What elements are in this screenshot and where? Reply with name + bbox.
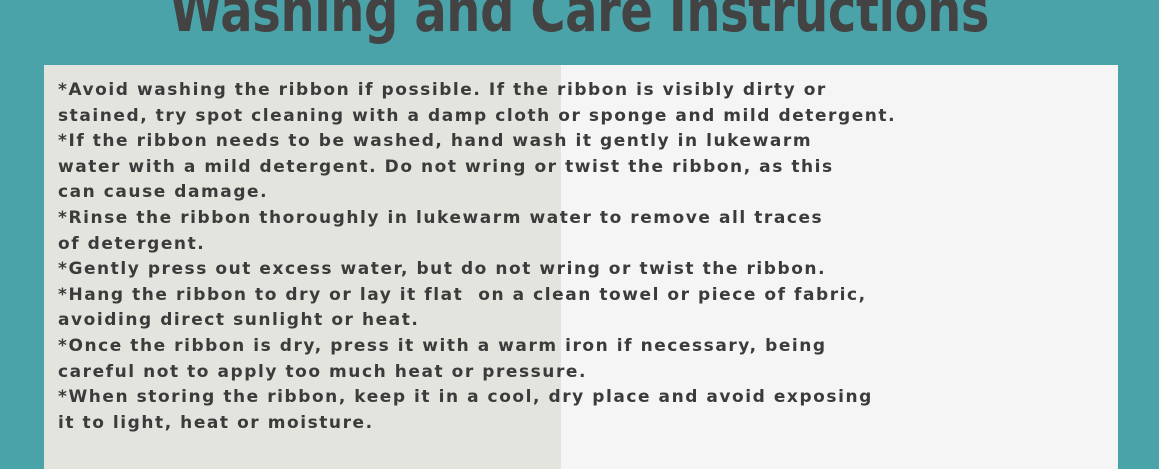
list-item: *If the ribbon needs to be washed, hand … bbox=[58, 129, 1110, 155]
list-item: *Rinse the ribbon thoroughly in lukewarm… bbox=[58, 206, 1110, 232]
list-item: of detergent. bbox=[58, 232, 1110, 258]
list-item: stained, try spot cleaning with a damp c… bbox=[58, 104, 1110, 130]
list-item: *Once the ribbon is dry, press it with a… bbox=[58, 334, 1110, 360]
list-item: avoiding direct sunlight or heat. bbox=[58, 308, 1110, 334]
poster-title-bar: Washing and Care Instructions bbox=[0, 0, 1159, 65]
instruction-list: *Avoid washing the ribbon if possible. I… bbox=[58, 78, 1110, 436]
page-title: Washing and Care Instructions bbox=[170, 0, 990, 41]
list-item: *When storing the ribbon, keep it in a c… bbox=[58, 385, 1110, 411]
list-item: *Hang the ribbon to dry or lay it flat o… bbox=[58, 283, 1110, 309]
instructions-panel: *Avoid washing the ribbon if possible. I… bbox=[44, 65, 1118, 469]
list-item: it to light, heat or moisture. bbox=[58, 411, 1110, 437]
list-item: *Gently press out excess water, but do n… bbox=[58, 257, 1110, 283]
care-instructions-poster: Washing and Care Instructions *Avoid was… bbox=[0, 0, 1159, 469]
list-item: can cause damage. bbox=[58, 180, 1110, 206]
list-item: careful not to apply too much heat or pr… bbox=[58, 360, 1110, 386]
list-item: water with a mild detergent. Do not wrin… bbox=[58, 155, 1110, 181]
list-item: *Avoid washing the ribbon if possible. I… bbox=[58, 78, 1110, 104]
